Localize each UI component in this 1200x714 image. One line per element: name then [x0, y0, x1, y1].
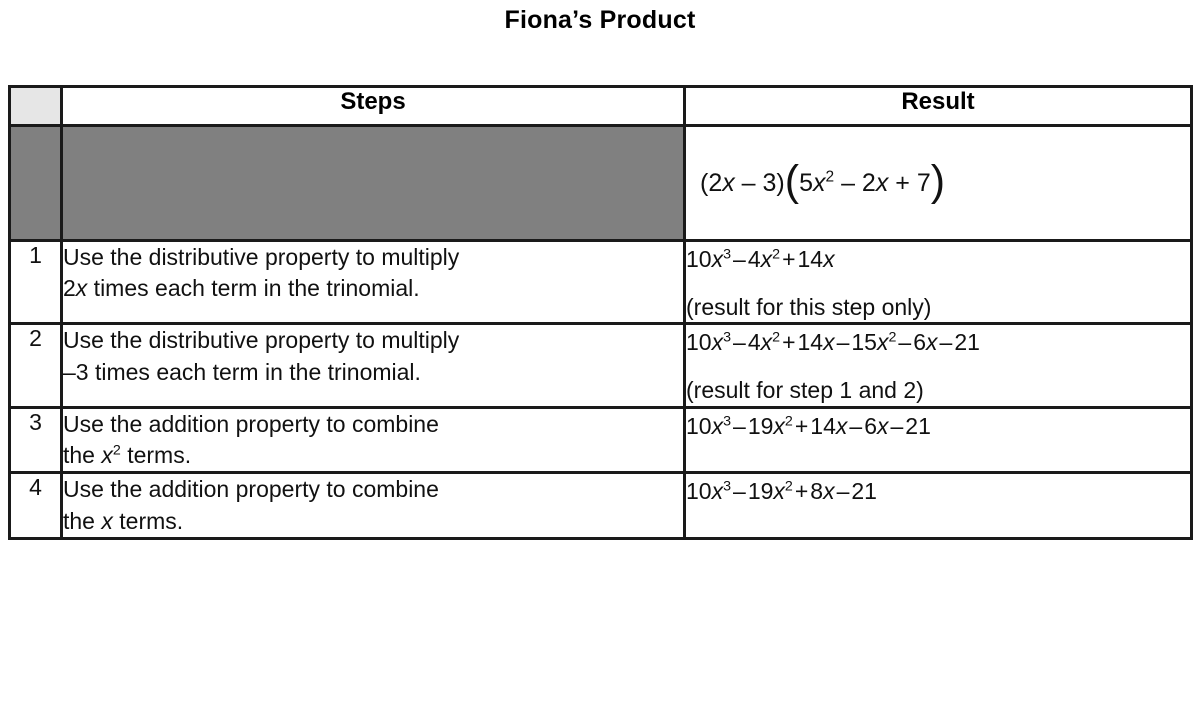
operator-minus: –: [733, 246, 746, 272]
step-line-1: Use the distributive property to multipl…: [63, 242, 683, 273]
problem-row: (2x – 3)(5x2 – 2x + 7): [10, 126, 1192, 241]
steps-table-wrapper: Steps Result (2x – 3)(5x2 – 2x + 7) 1: [8, 85, 1190, 540]
result-note: (result for this step only): [686, 293, 1190, 323]
table-row: 3 Use the addition property to combine t…: [10, 407, 1192, 473]
step-variable-x: x: [76, 275, 88, 301]
problem-result-cell: (2x – 3)(5x2 – 2x + 7): [685, 126, 1192, 241]
exponent-2: 2: [772, 246, 780, 262]
operator-minus: –: [733, 413, 746, 439]
exponent-3: 3: [723, 246, 731, 262]
result-expression: 10x3–4x2+14x–15x2–6x–21: [686, 325, 1190, 360]
table-row: 4 Use the addition property to combine t…: [10, 473, 1192, 539]
step-line-2-rest: terms.: [113, 508, 183, 534]
operator-minus: –: [837, 478, 850, 504]
var-x: x: [773, 413, 785, 439]
var-x: x: [823, 478, 835, 504]
step-coefficient: 2: [63, 275, 76, 301]
var-x: x: [712, 413, 724, 439]
exponent-3: 3: [723, 479, 731, 495]
expr-minus-2: – 2: [834, 169, 876, 197]
expr-plus-7: + 7: [888, 169, 930, 197]
expr-coef-5: 5: [799, 169, 813, 197]
table-row: 1 Use the distributive property to multi…: [10, 241, 1192, 324]
result-note: (result for step 1 and 2): [686, 376, 1190, 406]
worksheet-page: Fiona’s Product Steps Result: [0, 0, 1200, 714]
step-line-2-rest: times each term in the trinomial.: [89, 359, 421, 385]
expr-var-x: x: [722, 169, 735, 197]
operator-minus: –: [898, 329, 911, 355]
step-result: 10x3–4x2+14x (result for this step only): [685, 241, 1192, 324]
coef-4: 4: [748, 246, 761, 272]
coef-6: 6: [913, 329, 926, 355]
step-line-2: –3 times each term in the trinomial.: [63, 357, 683, 388]
step-description: Use the addition property to combine the…: [62, 407, 685, 473]
step-line-1: Use the addition property to combine: [63, 409, 683, 440]
expr-var-x1: x: [813, 169, 826, 197]
step-coefficient: –3: [63, 359, 89, 385]
table-header-row: Steps Result: [10, 87, 1192, 126]
step-exponent-2: 2: [113, 442, 121, 458]
var-x: x: [712, 246, 724, 272]
step-line-2-prefix: the: [63, 508, 101, 534]
step-description: Use the distributive property to multipl…: [62, 241, 685, 324]
coef-10: 10: [686, 413, 712, 439]
step-line-1: Use the addition property to combine: [63, 474, 683, 505]
step-variable-x: x: [101, 508, 113, 534]
step-line-2-rest: times each term in the trinomial.: [87, 275, 419, 301]
header-steps-cell: Steps: [62, 87, 685, 126]
coef-10: 10: [686, 478, 712, 504]
result-expression: 10x3–4x2+14x: [686, 242, 1190, 277]
expr-big-close-paren: ): [931, 157, 945, 205]
step-number: 2: [10, 324, 62, 407]
original-expression: (2x – 3)(5x2 – 2x + 7): [686, 169, 945, 197]
coef-14: 14: [798, 246, 824, 272]
const-21: 21: [851, 478, 877, 504]
expr-const-3: 3): [763, 169, 785, 197]
operator-plus: +: [795, 413, 808, 439]
step-number: 3: [10, 407, 62, 473]
var-x: x: [877, 413, 889, 439]
coef-15: 15: [851, 329, 877, 355]
expr-big-open-paren: (: [785, 157, 799, 205]
coef-14: 14: [810, 413, 836, 439]
operator-plus: +: [782, 246, 795, 272]
operator-minus: –: [849, 413, 862, 439]
var-x: x: [836, 413, 848, 439]
var-x: x: [712, 478, 724, 504]
step-result: 10x3–19x2+14x–6x–21: [685, 407, 1192, 473]
result-expression: 10x3–19x2+14x–6x–21: [686, 409, 1190, 444]
table-row: 2 Use the distributive property to multi…: [10, 324, 1192, 407]
var-x: x: [926, 329, 938, 355]
problem-steps-cell: [62, 126, 685, 241]
step-description: Use the distributive property to multipl…: [62, 324, 685, 407]
exponent-2: 2: [785, 413, 793, 429]
expr-minus: –: [735, 169, 763, 197]
operator-plus: +: [782, 329, 795, 355]
operator-plus: +: [795, 478, 808, 504]
coef-4: 4: [748, 329, 761, 355]
const-21: 21: [905, 413, 931, 439]
step-number: 1: [10, 241, 62, 324]
var-x: x: [712, 329, 724, 355]
page-title: Fiona’s Product: [0, 6, 1200, 35]
coef-19: 19: [748, 413, 774, 439]
exponent-2: 2: [888, 330, 896, 346]
coef-6: 6: [864, 413, 877, 439]
expr-var-x2: x: [876, 169, 889, 197]
expr-open-paren: (2: [700, 169, 722, 197]
coef-8: 8: [810, 478, 823, 504]
var-x: x: [877, 329, 889, 355]
step-line-2: 2x times each term in the trinomial.: [63, 273, 683, 304]
header-result-cell: Result: [685, 87, 1192, 126]
step-description: Use the addition property to combine the…: [62, 473, 685, 539]
exponent-3: 3: [723, 330, 731, 346]
var-x: x: [823, 329, 835, 355]
step-line-2: the x terms.: [63, 506, 683, 537]
step-result: 10x3–19x2+8x–21: [685, 473, 1192, 539]
operator-minus: –: [733, 329, 746, 355]
var-x: x: [761, 246, 773, 272]
var-x: x: [761, 329, 773, 355]
steps-result-table: Steps Result (2x – 3)(5x2 – 2x + 7) 1: [8, 85, 1193, 540]
step-line-2-prefix: the: [63, 442, 101, 468]
coef-14: 14: [798, 329, 824, 355]
coef-10: 10: [686, 246, 712, 272]
exponent-3: 3: [723, 413, 731, 429]
step-line-2-rest: terms.: [121, 442, 191, 468]
result-expression: 10x3–19x2+8x–21: [686, 474, 1190, 509]
coef-19: 19: [748, 478, 774, 504]
coef-10: 10: [686, 329, 712, 355]
problem-number-cell: [10, 126, 62, 241]
operator-minus: –: [733, 478, 746, 504]
operator-minus: –: [940, 329, 953, 355]
operator-minus: –: [890, 413, 903, 439]
expr-exponent-2: 2: [826, 168, 835, 185]
const-21: 21: [954, 329, 980, 355]
step-variable-x: x: [101, 442, 113, 468]
step-result: 10x3–4x2+14x–15x2–6x–21 (result for step…: [685, 324, 1192, 407]
var-x: x: [773, 478, 785, 504]
step-number: 4: [10, 473, 62, 539]
step-line-2: the x2 terms.: [63, 440, 683, 471]
header-number-cell: [10, 87, 62, 126]
exponent-2: 2: [785, 479, 793, 495]
var-x: x: [823, 246, 835, 272]
exponent-2: 2: [772, 330, 780, 346]
operator-minus: –: [837, 329, 850, 355]
step-line-1: Use the distributive property to multipl…: [63, 325, 683, 356]
